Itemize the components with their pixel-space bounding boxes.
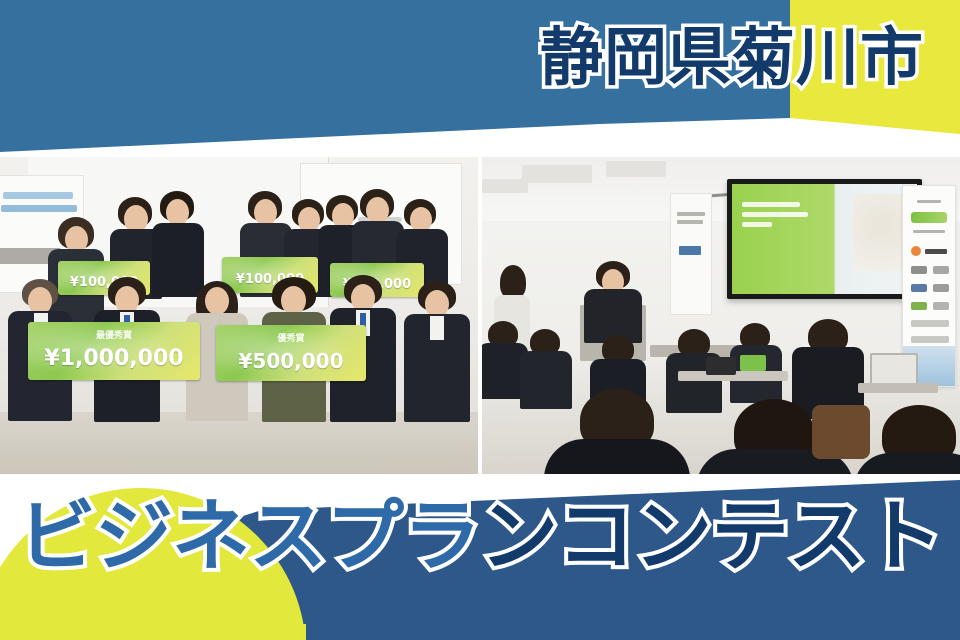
laptop-screen [740, 355, 766, 371]
sponsor-logo [911, 212, 947, 223]
laptop [706, 357, 736, 375]
page-title-contest: ビジネスプランコンテスト [0, 498, 960, 576]
person-face [254, 199, 277, 226]
ceiling-tile [606, 161, 666, 177]
prize-check-second: 優秀賞 ¥500,000 [216, 325, 366, 381]
ceiling-tile [522, 165, 592, 183]
laptop [870, 353, 918, 387]
photo-strip: ¥100,000 ¥100,000 ¥100,000 [0, 157, 960, 474]
projection-screen [727, 179, 922, 299]
person-face [366, 197, 389, 224]
person-shirt [430, 316, 444, 340]
floor-shadow [0, 434, 478, 474]
photo-award-ceremony: ¥100,000 ¥100,000 ¥100,000 [0, 157, 478, 474]
ceiling-tile [482, 179, 528, 193]
person-body [152, 223, 204, 297]
page-title-prefecture-city: 静岡県菊川市 [0, 26, 960, 89]
headline-bottom-segment-1: ビジネスプラ [18, 492, 480, 582]
poster-root: 静岡県菊川市 [0, 0, 960, 640]
side-table [858, 383, 938, 393]
person-face [205, 287, 229, 315]
side-banner [670, 193, 712, 315]
prize-check-grand: 最優秀賞 ¥1,000,000 [28, 322, 200, 380]
slide-content [732, 184, 917, 294]
chair-back [812, 405, 870, 459]
headline-bottom-segment-2: ンコンテスト [480, 492, 942, 582]
foreground-shoulders [544, 439, 690, 474]
person-face [166, 199, 189, 226]
audience-body [520, 351, 572, 409]
bottom-yellow-fill [0, 624, 306, 640]
photo-seminar-room [482, 157, 960, 474]
person-head [500, 265, 526, 299]
person-face [281, 286, 306, 315]
